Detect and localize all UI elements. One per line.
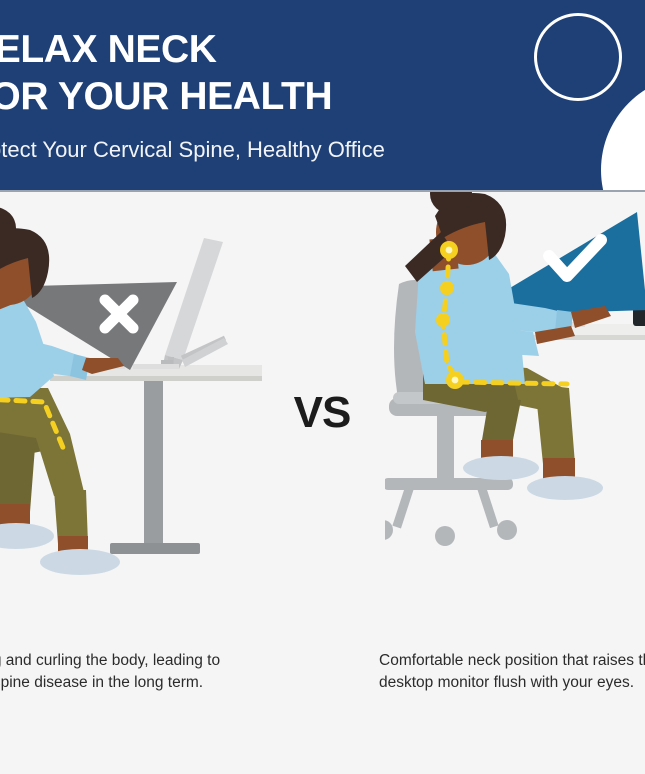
caption-good-line-2: desktop monitor flush with your eyes. — [379, 672, 645, 694]
bad-posture-graphic — [0, 192, 262, 632]
circle-outline-decoration-icon — [534, 13, 622, 101]
poster-header: RELAX NECK FOR YOUR HEALTH Protect Your … — [0, 0, 645, 192]
good-posture-graphic — [385, 192, 645, 632]
header-text-block: RELAX NECK FOR YOUR HEALTH Protect Your … — [0, 26, 527, 164]
caption-bad-line-2: cervical spine disease in the long term. — [0, 672, 266, 694]
caption-bad-line-1: Hunching and curling the body, leading t… — [0, 650, 266, 672]
circle-filled-decoration-icon — [601, 75, 645, 192]
vs-label: VS — [272, 388, 372, 438]
poster-subtitle: Protect Your Cervical Spine, Healthy Off… — [0, 136, 527, 164]
poster-title-line-2: FOR YOUR HEALTH — [0, 73, 527, 120]
illustration-bad-posture — [0, 192, 262, 632]
comparison-illustration-area: VS — [0, 192, 645, 632]
infographic-poster: RELAX NECK FOR YOUR HEALTH Protect Your … — [0, 0, 645, 774]
caption-good-posture: Comfortable neck position that raises th… — [379, 650, 645, 694]
illustration-good-posture — [385, 192, 645, 632]
caption-good-line-1: Comfortable neck position that raises th… — [379, 650, 645, 672]
caption-bad-posture: Hunching and curling the body, leading t… — [0, 650, 266, 694]
poster-title-line-1: RELAX NECK — [0, 26, 527, 73]
